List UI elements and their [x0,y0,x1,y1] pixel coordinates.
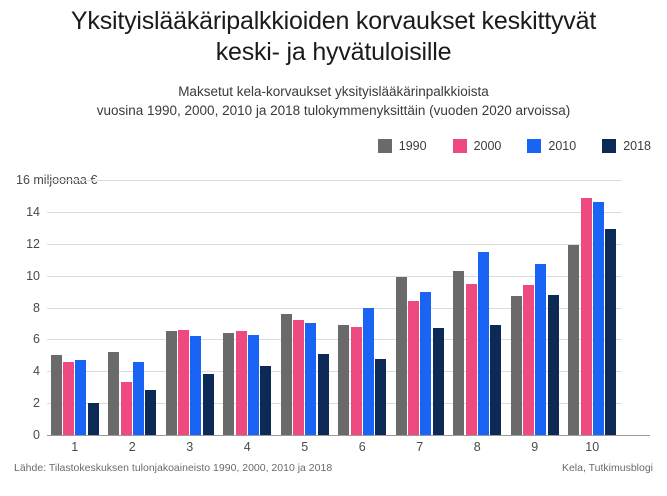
x-tick-label-1: 1 [71,440,78,454]
legend-label-2010: 2010 [548,139,576,153]
bar-1990-decile-8 [453,271,464,435]
bar-1990-decile-3 [166,331,177,435]
bar-2010-decile-10 [593,202,604,435]
bar-2018-decile-6 [375,359,386,436]
bar-2010-decile-4 [248,335,259,435]
bar-2018-decile-2 [145,390,156,435]
bar-1990-decile-9 [511,296,522,435]
legend-label-2018: 2018 [623,139,651,153]
subtitle-line-2: vuosina 1990, 2000, 2010 ja 2018 tulokym… [0,101,667,120]
chart-legend: 1990200020102018 [378,139,651,153]
legend-item-2000[interactable]: 2000 [453,139,502,153]
bar-2000-decile-10 [581,198,592,435]
bar-2010-decile-9 [535,264,546,435]
bar-2010-decile-1 [75,360,86,435]
bar-1990-decile-6 [338,325,349,435]
x-axis-labels: 12345678910 [47,440,622,460]
bar-1990-decile-5 [281,314,292,435]
bar-2018-decile-10 [605,229,616,435]
y-axis-labels: 0246810121416 miljoonaa € [0,180,40,436]
source-note: Lähde: Tilastokeskuksen tulonjakoaineist… [14,462,332,474]
legend-item-1990[interactable]: 1990 [378,139,427,153]
bar-2000-decile-1 [63,362,74,435]
bar-2010-decile-7 [420,292,431,435]
legend-item-2018[interactable]: 2018 [602,139,651,153]
legend-item-2010[interactable]: 2010 [527,139,576,153]
subtitle-line-1: Maksetut kela-korvaukset yksityislääkäri… [178,84,489,99]
legend-swatch-icon-2010 [527,139,541,153]
x-tick-label-3: 3 [186,440,193,454]
legend-label-1990: 1990 [399,139,427,153]
bar-2000-decile-5 [293,320,304,435]
page-title: Yksityislääkäripalkkioiden korvaukset ke… [0,6,667,68]
bar-2000-decile-3 [178,330,189,435]
x-tick-label-8: 8 [474,440,481,454]
bar-2018-decile-9 [548,295,559,435]
bar-2010-decile-2 [133,362,144,435]
bar-1990-decile-1 [51,355,62,435]
y-tick-label-6: 6 [33,332,40,346]
x-tick-label-5: 5 [301,440,308,454]
bar-2000-decile-8 [466,284,477,435]
legend-swatch-icon-2018 [602,139,616,153]
bar-2018-decile-3 [203,374,214,435]
x-tick-label-6: 6 [359,440,366,454]
y-tick-label-8: 8 [33,301,40,315]
legend-swatch-icon-2000 [453,139,467,153]
chart-page: Yksityislääkäripalkkioiden korvaukset ke… [0,0,667,496]
bar-1990-decile-2 [108,352,119,435]
x-tick-label-4: 4 [244,440,251,454]
bar-2000-decile-7 [408,301,419,435]
bar-1990-decile-4 [223,333,234,435]
title-line-2: keski- ja hyvätuloisille [0,37,667,68]
plot-area [47,180,622,435]
bar-2010-decile-3 [190,336,201,435]
y-tick-label-10: 10 [26,269,40,283]
x-tick-label-2: 2 [129,440,136,454]
bar-2000-decile-2 [121,382,132,435]
y-tick-label-4: 4 [33,364,40,378]
chart-subtitle: Maksetut kela-korvaukset yksityislääkäri… [0,82,667,120]
bar-1990-decile-7 [396,277,407,435]
y-tick-label-0: 0 [33,428,40,442]
x-axis-line [47,435,650,437]
x-tick-label-9: 9 [531,440,538,454]
y-tick-label-14: 14 [26,205,40,219]
x-tick-label-10: 10 [585,440,599,454]
bar-series-container [47,180,622,435]
x-tick-label-7: 7 [416,440,423,454]
bar-2000-decile-9 [523,285,534,435]
bar-2018-decile-7 [433,328,444,435]
bar-2018-decile-1 [88,403,99,435]
bar-2000-decile-6 [351,327,362,435]
y-tick-label-2: 2 [33,396,40,410]
legend-swatch-icon-1990 [378,139,392,153]
bar-2018-decile-5 [318,354,329,435]
bar-2018-decile-4 [260,366,271,435]
bar-2010-decile-6 [363,308,374,436]
y-tick-label-12: 12 [26,237,40,251]
bar-2000-decile-4 [236,331,247,435]
bar-2018-decile-8 [490,325,501,435]
bar-2010-decile-8 [478,252,489,435]
bar-2010-decile-5 [305,323,316,435]
legend-label-2000: 2000 [474,139,502,153]
title-line-1: Yksityislääkäripalkkioiden korvaukset ke… [71,7,596,35]
credit-note: Kela, Tutkimusblogi [562,462,653,474]
bar-1990-decile-10 [568,245,579,435]
